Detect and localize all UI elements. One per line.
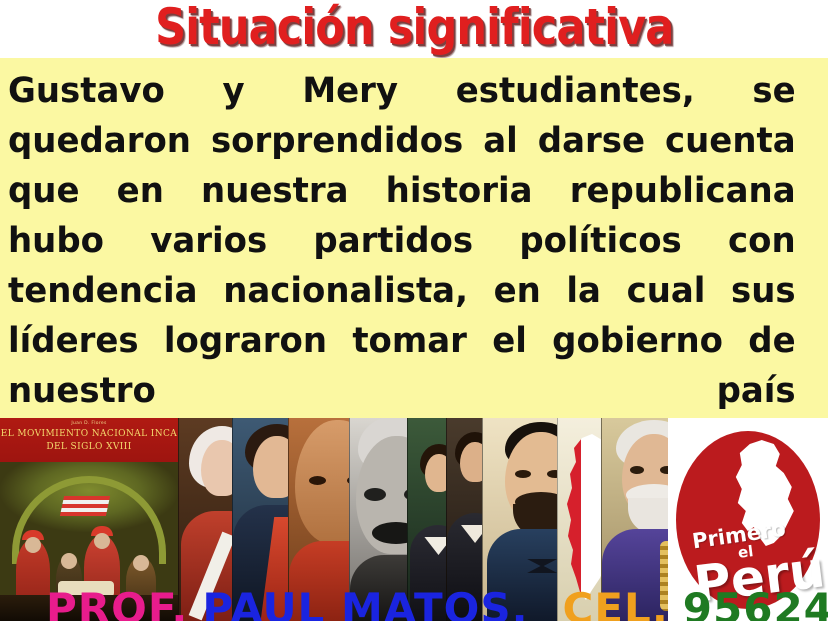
eye-shape bbox=[309, 476, 326, 485]
peru-map-flag-icon bbox=[562, 432, 601, 604]
title-bar: Situación significativa bbox=[0, 0, 828, 58]
eye-shape bbox=[630, 466, 644, 474]
face-shape bbox=[201, 440, 232, 496]
figure-head bbox=[61, 553, 77, 569]
situation-body-text: Gustavo y Mery estudiantes, se quedaron … bbox=[8, 66, 796, 466]
portrait-small-figure-left bbox=[407, 418, 446, 621]
historical-portraits-montage bbox=[178, 418, 668, 621]
inca-banner bbox=[60, 496, 110, 516]
portrait-colonial-wig bbox=[178, 418, 232, 621]
logo-oval-shape: Primero el Perú bbox=[676, 431, 820, 609]
eye-shape bbox=[515, 470, 531, 478]
book-author-text: Juan D. Flores bbox=[0, 421, 178, 426]
eye-shape bbox=[364, 488, 386, 501]
eye-shape bbox=[547, 470, 557, 478]
portrait-frontal-face bbox=[288, 418, 349, 621]
figure-head bbox=[133, 555, 149, 571]
book-title-line-2: DEL SIGLO XVIII bbox=[0, 441, 178, 454]
figure-head bbox=[94, 533, 110, 549]
slide-root: Situación significativa Gustavo y Mery e… bbox=[0, 0, 828, 621]
book-cover-image: Juan D. Flores EL MOVIMIENTO NACIONAL IN… bbox=[0, 418, 178, 621]
page-title: Situación significativa bbox=[155, 0, 673, 55]
suit-shape bbox=[487, 529, 557, 621]
portrait-small-figure-right bbox=[446, 418, 482, 621]
image-strip: Juan D. Flores EL MOVIMIENTO NACIONAL IN… bbox=[0, 418, 828, 621]
book-cover-artwork bbox=[0, 462, 178, 621]
logo-word-peru: Perú bbox=[691, 543, 827, 611]
uniform-shape bbox=[289, 541, 349, 621]
portrait-monochrome-mustache bbox=[349, 418, 408, 621]
portrait-white-haired-general bbox=[601, 418, 668, 621]
book-title-line-1: EL MOVIMIENTO NACIONAL INCA bbox=[0, 428, 178, 441]
floor-shadow bbox=[0, 595, 178, 621]
situation-text-panel: Gustavo y Mery estudiantes, se quedaron … bbox=[0, 58, 828, 418]
portrait-bearded-president bbox=[482, 418, 557, 621]
suit-shape bbox=[350, 555, 408, 621]
figure-head bbox=[25, 537, 41, 553]
primero-el-peru-logo: Primero el Perú bbox=[668, 418, 828, 621]
peru-flag-map-panel bbox=[557, 418, 601, 621]
book-title-text: EL MOVIMIENTO NACIONAL INCA DEL SIGLO XV… bbox=[0, 428, 178, 454]
face-shape bbox=[460, 442, 482, 482]
portrait-officer-dark-hair bbox=[232, 418, 288, 621]
gold-braid-shape bbox=[660, 541, 668, 611]
uniform-shape bbox=[602, 529, 668, 621]
face-shape bbox=[425, 454, 446, 492]
